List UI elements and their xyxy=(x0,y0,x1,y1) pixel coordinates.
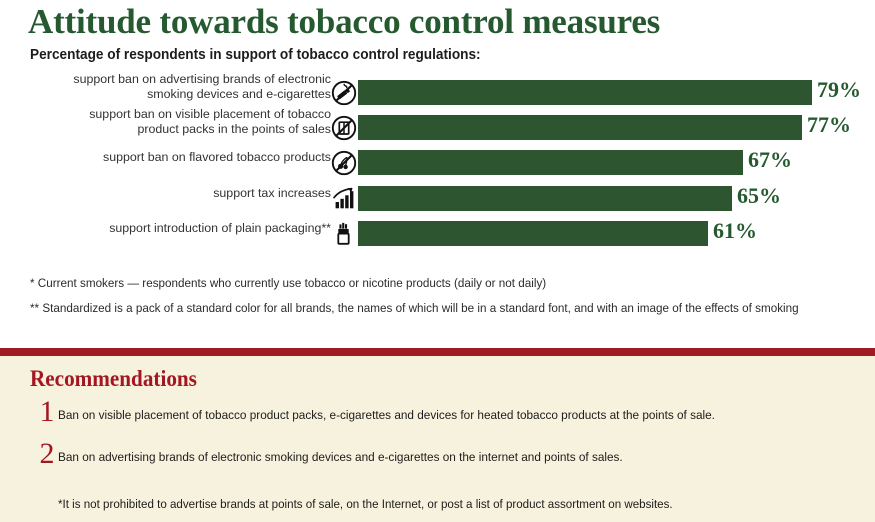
bar-value: 79% xyxy=(817,77,861,103)
bar-label-line1: support ban on advertising brands of ele… xyxy=(73,72,331,86)
bar-label-line1: support introduction of plain packaging*… xyxy=(109,221,331,235)
bar-value: 77% xyxy=(807,112,851,138)
bar-label: support introduction of plain packaging*… xyxy=(21,221,331,236)
table-row: support ban on flavored tobacco products… xyxy=(0,150,875,182)
bar-value: 67% xyxy=(748,147,792,173)
list-item: 2 Ban on advertising brands of electroni… xyxy=(30,446,860,478)
footnote-standardized-pack: ** Standardized is a pack of a standard … xyxy=(30,300,809,316)
table-row: support ban on visible placement of toba… xyxy=(0,115,875,147)
no-vaping-icon xyxy=(331,80,357,106)
recommendation-number: 2 xyxy=(34,437,60,471)
bar-label-line2: smoking devices and e-cigarettes xyxy=(147,87,331,101)
bar-track xyxy=(358,80,812,105)
no-flavored-tobacco-icon xyxy=(331,150,357,176)
bar-label-line1: support ban on flavored tobacco products xyxy=(103,150,331,164)
bar-fill xyxy=(358,80,812,105)
chart-subtitle: Percentage of respondents in support of … xyxy=(30,47,481,63)
bar-label-line1: support tax increases xyxy=(213,186,331,200)
section-divider xyxy=(0,348,875,356)
page-title: Attitude towards tobacco control measure… xyxy=(28,2,660,42)
table-row: support tax increases 65% xyxy=(0,186,875,218)
rising-bar-chart-icon xyxy=(331,186,357,212)
recommendations-heading: Recommendations xyxy=(30,366,197,392)
bar-chart: support ban on advertising brands of ele… xyxy=(0,74,875,264)
bar-fill xyxy=(358,115,802,140)
bar-label-line1: support ban on visible placement of toba… xyxy=(89,107,331,121)
bar-fill xyxy=(358,186,732,211)
bar-fill xyxy=(358,221,708,246)
bar-label: support ban on visible placement of toba… xyxy=(21,107,331,137)
chart-section: Attitude towards tobacco control measure… xyxy=(0,0,875,348)
table-row: support introduction of plain packaging*… xyxy=(0,221,875,253)
recommendations-panel: Recommendations 1 Ban on visible placeme… xyxy=(0,356,875,522)
bar-track xyxy=(358,115,802,140)
bar-label-line2: product packs in the points of sales xyxy=(137,122,331,136)
recommendation-text: Ban on advertising brands of electronic … xyxy=(58,449,818,465)
bar-value: 61% xyxy=(713,218,757,244)
bar-track xyxy=(358,221,708,246)
no-cigarette-pack-icon xyxy=(331,115,357,141)
bar-fill xyxy=(358,150,743,175)
bar-label: support ban on flavored tobacco products xyxy=(21,150,331,165)
plain-pack-icon xyxy=(331,221,357,247)
recommendation-text: Ban on visible placement of tobacco prod… xyxy=(58,407,818,423)
bar-label: support ban on advertising brands of ele… xyxy=(21,72,331,102)
bar-value: 65% xyxy=(737,183,781,209)
list-item: 1 Ban on visible placement of tobacco pr… xyxy=(30,404,860,436)
recommendation-number: 1 xyxy=(34,395,60,429)
footnote-current-smokers: * Current smokers — respondents who curr… xyxy=(30,275,809,291)
bar-label: support tax increases xyxy=(21,186,331,201)
bar-track xyxy=(358,186,732,211)
recommendations-footnote: *It is not prohibited to advertise brand… xyxy=(58,496,818,512)
bar-track xyxy=(358,150,743,175)
